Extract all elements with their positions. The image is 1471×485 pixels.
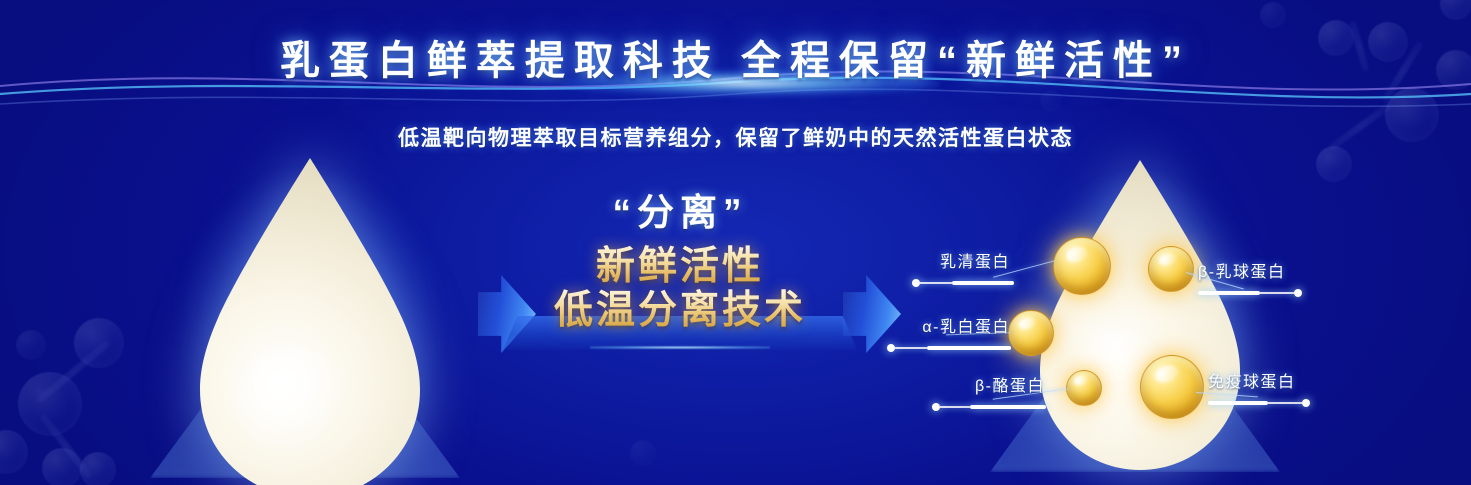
callout-label: β-乳球蛋白 <box>1198 258 1348 282</box>
center-platform-glow-line <box>590 346 770 349</box>
protein-sphere-immunoglobulin <box>1140 355 1204 419</box>
callout-ruler <box>1208 399 1358 407</box>
center-headline-block: “分离” 新鲜活性 低温分离技术 <box>485 186 875 368</box>
callout-dot <box>887 344 895 352</box>
promo-banner: 乳蛋白鲜萃提取科技 全程保留“新鲜活性” 低温靶向物理萃取目标营养组分，保留了鲜… <box>0 0 1471 485</box>
callout-bar <box>927 346 1011 350</box>
molecule-node-icon <box>18 372 82 436</box>
page-subtitle: 低温靶向物理萃取目标营养组分，保留了鲜奶中的天然活性蛋白状态 <box>0 122 1471 152</box>
molecule-node-icon <box>1440 0 1471 20</box>
callout-ruler <box>880 279 1010 287</box>
callout-thin-line <box>940 406 970 408</box>
callout-dot <box>1294 289 1302 297</box>
molecule-node-icon <box>0 430 28 474</box>
callout-bar <box>970 405 1046 409</box>
callout-label: 乳清蛋白 <box>880 248 1010 272</box>
protein-sphere-whey <box>1053 237 1111 295</box>
molecule-node-icon <box>630 440 656 466</box>
center-gold-line-2: 低温分离技术 <box>485 289 875 333</box>
callout-ruler <box>865 344 1010 352</box>
molecule-node-icon <box>1260 2 1286 28</box>
molecule-node-icon <box>16 330 46 360</box>
molecule-bond-icon <box>39 413 93 479</box>
callout-label: β-酪蛋白 <box>900 372 1045 396</box>
molecule-node-icon <box>1040 90 1062 112</box>
callout-beta-casein[interactable]: β-酪蛋白 <box>900 372 1045 411</box>
callout-immunoglobulin[interactable]: 免疫球蛋白 <box>1208 368 1358 407</box>
protein-sphere-beta-casein <box>1066 370 1102 406</box>
callout-dot <box>932 403 940 411</box>
protein-sphere-alpha-lactalbumin <box>1008 310 1054 356</box>
molecule-node-icon <box>42 448 82 485</box>
page-title: 乳蛋白鲜萃提取科技 全程保留“新鲜活性” <box>0 28 1471 86</box>
callout-beta-lactoglobulin[interactable]: β-乳球蛋白 <box>1198 258 1348 297</box>
callout-label: 免疫球蛋白 <box>1208 368 1358 392</box>
callout-thin-line <box>920 282 952 284</box>
callout-bar <box>1208 401 1268 405</box>
callout-bar <box>952 281 1014 285</box>
callout-thin-line <box>1268 402 1302 404</box>
center-gold-line-1: 新鲜活性 <box>485 245 875 289</box>
molecule-node-icon <box>80 452 116 485</box>
center-quote-text: “分离” <box>485 186 875 231</box>
milk-droplet-right <box>1040 160 1240 470</box>
molecule-bond-icon <box>36 340 111 404</box>
callout-label: α-乳白蛋白 <box>865 313 1010 337</box>
callout-ruler <box>1198 289 1348 297</box>
callout-ruler <box>900 403 1045 411</box>
protein-sphere-beta-lactoglobulin <box>1148 246 1194 292</box>
callout-bar <box>1198 291 1260 295</box>
droplet-highlight <box>235 345 349 461</box>
callout-whey-protein[interactable]: 乳清蛋白 <box>880 248 1010 287</box>
milk-droplet-left <box>200 158 420 485</box>
callout-alpha-lactalbumin[interactable]: α-乳白蛋白 <box>865 313 1010 352</box>
callout-thin-line <box>1260 292 1294 294</box>
callout-dot <box>912 279 920 287</box>
molecule-node-icon <box>74 318 124 368</box>
callout-thin-line <box>895 347 927 349</box>
callout-dot <box>1302 399 1310 407</box>
